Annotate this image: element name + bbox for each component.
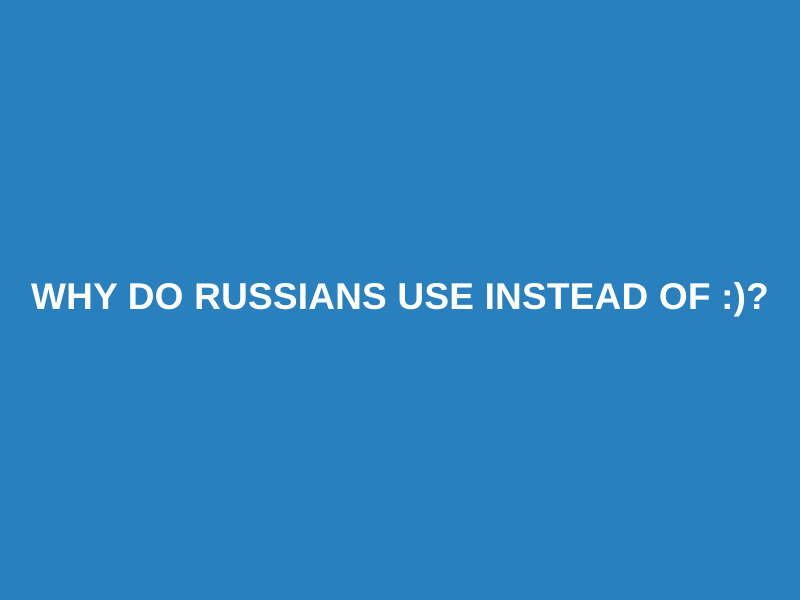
headline-container: WHY DO RUSSIANS USE INSTEAD OF :)? bbox=[0, 271, 800, 323]
headline-card: WHY DO RUSSIANS USE INSTEAD OF :)? bbox=[0, 0, 800, 600]
page-title: WHY DO RUSSIANS USE INSTEAD OF :)? bbox=[31, 271, 769, 323]
